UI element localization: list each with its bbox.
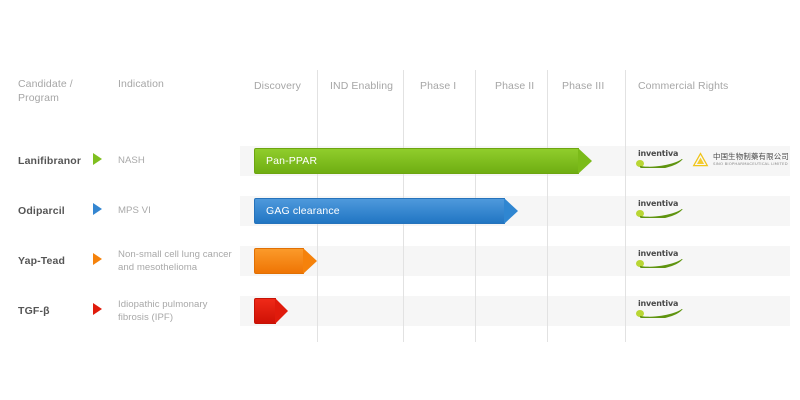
header-phase-1: Phase I (420, 79, 456, 93)
row-band (240, 296, 790, 326)
header-indication: Indication (118, 77, 228, 91)
row-band (240, 246, 790, 276)
logo-inventiva-wordmark: inventiva (638, 149, 678, 158)
bar-label-lanifibranor: Pan-PPAR (266, 155, 317, 167)
row-label-odiparcil: Odiparcil (18, 205, 65, 217)
bar-odiparcil[interactable]: GAG clearance (254, 198, 518, 224)
logo-inventiva: inventiva (634, 149, 686, 171)
bar-yap-tead[interactable] (254, 248, 317, 274)
marker-triangle-icon (93, 253, 102, 265)
header-phase-3: Phase III (562, 79, 604, 93)
header-ind-enabling: IND Enabling (330, 79, 393, 93)
logo-inventiva: inventiva (634, 299, 686, 321)
bar-arrow-tip (578, 148, 592, 174)
header-discovery: Discovery (254, 79, 301, 93)
row-label-lanifibranor: Lanifibranor (18, 155, 81, 167)
logo-inventiva-swoosh-icon (640, 159, 684, 168)
row-indication-odiparcil: MPS VI (118, 205, 238, 218)
logo-inventiva: inventiva (634, 199, 686, 221)
marker-triangle-icon (93, 303, 102, 315)
row-indication-lanifibranor: NASH (118, 155, 238, 168)
logo-inventiva-swoosh-icon (640, 209, 684, 218)
logo-inventiva: inventiva (634, 249, 686, 271)
marker-triangle-icon (93, 203, 102, 215)
marker-triangle-icon (93, 153, 102, 165)
bar-label-odiparcil: GAG clearance (266, 205, 340, 217)
logo-inventiva-wordmark: inventiva (638, 299, 678, 308)
row-indication-yap-tead: Non-small cell lung cancer and mesotheli… (118, 249, 238, 274)
header-candidate-program: Candidate / Program (18, 77, 108, 105)
bar-tgf-beta[interactable] (254, 298, 288, 324)
bar-arrow-tip (504, 198, 518, 224)
header-phase-2: Phase II (495, 79, 534, 93)
bar-lanifibranor[interactable]: Pan-PPAR (254, 148, 592, 174)
logo-inventiva-swoosh-icon (640, 309, 684, 318)
column-divider-phase-3 (625, 70, 626, 342)
logo-sino-english-name: SINO BIOPHARMACEUTICAL LIMITED (713, 161, 788, 166)
row-label-tgf-beta: TGF-β (18, 305, 50, 317)
logo-inventiva-wordmark: inventiva (638, 249, 678, 258)
header-commercial-rights: Commercial Rights (638, 79, 728, 93)
column-divider-phase-2 (547, 70, 548, 342)
sino-triangle-icon (692, 152, 709, 168)
bar-body (254, 248, 304, 274)
row-indication-tgf-beta: Idiopathic pulmonary fibrosis (IPF) (118, 299, 238, 324)
logo-sino-biopharmaceutical: 中国生物制藥有限公司 SINO BIOPHARMACEUTICAL LIMITE… (692, 151, 784, 171)
logo-inventiva-wordmark: inventiva (638, 199, 678, 208)
bar-arrow-tip (303, 248, 317, 274)
row-label-yap-tead: Yap-Tead (18, 255, 65, 267)
bar-arrow-tip (275, 298, 288, 324)
logo-inventiva-swoosh-icon (640, 259, 684, 268)
pipeline-chart: Candidate / Program Indication Discovery… (0, 0, 800, 400)
bar-body (254, 298, 276, 324)
